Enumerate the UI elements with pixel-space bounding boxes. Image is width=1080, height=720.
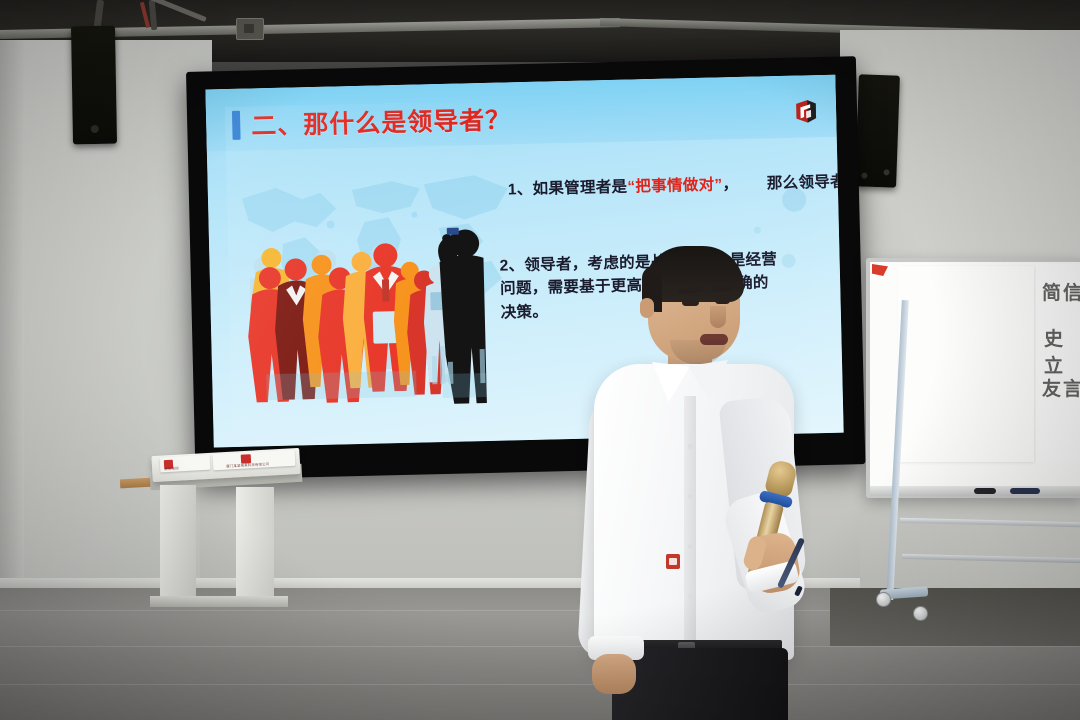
company-cube-logo-icon [792,97,821,126]
marker-blue[interactable] [1010,488,1040,494]
presenter-eye [715,297,730,304]
whiteboard-marker-tray [870,486,1080,496]
presentation-room-photo: 二、那什么是领导者？ 1、如果管理者是“把事情做对”， 那么领导者就是“做对的事… [0,0,1080,720]
whiteboard-handwriting-3: 友言 [1042,374,1080,401]
decorative-circle [754,227,761,234]
wall-speaker-right [855,74,900,187]
podium-sign-left: 教育培训 [160,455,211,473]
bullet-2-number: 2、 [499,257,524,275]
podium-base [150,596,288,607]
bullet-1-number: 1、 [508,181,533,199]
business-team-illustration [232,213,486,409]
ceiling-power-outlet [236,18,264,40]
shirt-logo-badge [666,554,680,569]
wall-speaker-left [71,26,117,145]
slide-title: 二、那什么是领导者？ [251,100,512,142]
podium-column-right [236,487,274,603]
podium-sign-left-text: 教育培训 [164,465,179,471]
podium-column-left [160,485,196,603]
presenter-eye [682,299,699,306]
wall-left-shadow [0,40,24,600]
whiteboard-handwriting-2: 史立 [1044,324,1080,378]
caster-wheel [913,606,928,621]
presenter-left-hand [592,654,636,694]
podium-sign-right-text: 厦门某某某某科技有限公司 [226,461,269,468]
marker-black[interactable] [974,488,996,494]
bullet-1-line1-quote: “把事情做对” [627,176,722,195]
presenter-nose [710,306,726,328]
presenter [560,236,820,720]
slide-title-row: 二、那什么是领导者？ [232,100,512,143]
flipchart-sheet [898,266,1034,462]
title-accent-bar [232,110,241,139]
presenter-ear [640,298,654,318]
bullet-1-line2-prefix: 那么领导者就是 [767,173,844,193]
caster-wheel [876,592,891,607]
shirt-placket [684,396,696,646]
bullet-1-line1-prefix: 如果管理者是 [532,179,627,198]
whiteboard-handwriting-1: 简信 [1042,278,1080,305]
floor-shadow-right [830,588,1080,646]
bullet-1-line1-suffix: ， [722,176,738,193]
presenter-eyebrow [712,285,732,291]
